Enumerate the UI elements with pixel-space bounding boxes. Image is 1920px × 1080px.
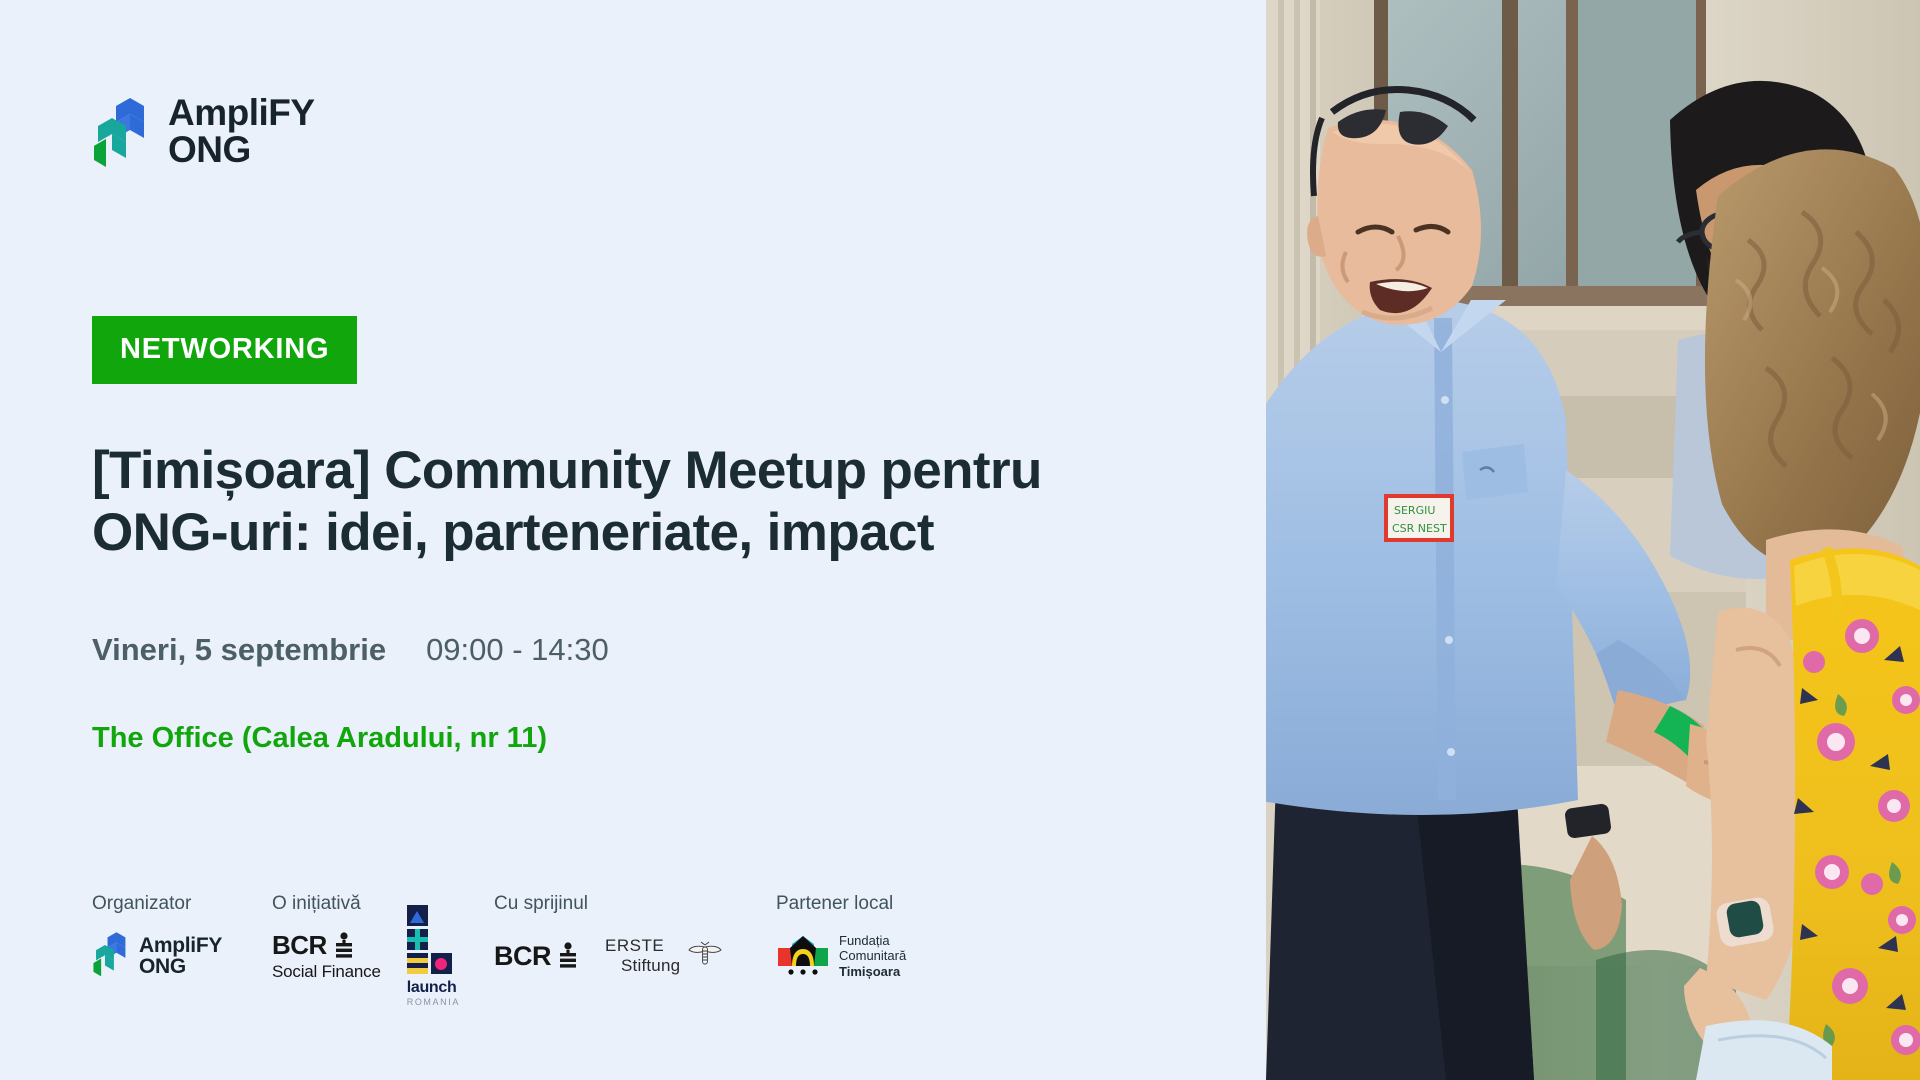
erste-line2: Stiftung <box>621 956 680 976</box>
brand-logo-line2: ONG <box>168 132 315 169</box>
event-title: [Timișoara] Community Meetup pentru ONG-… <box>92 440 1252 564</box>
event-time: 09:00 - 14:30 <box>426 632 609 668</box>
partner-group-organizator: Organizator <box>92 893 272 987</box>
category-badge: NETWORKING <box>92 316 357 384</box>
content-panel: AmpliFY ONG NETWORKING [Timișoara] Commu… <box>0 0 1266 1080</box>
launch-tiles-icon <box>407 905 452 974</box>
fundatia-comunitara-timisoara-logo: Fundația Comunitară Timișoara <box>776 933 906 979</box>
event-datetime: Vineri, 5 septembrie 09:00 - 14:30 <box>92 632 609 668</box>
svg-text:SERGIU: SERGIU <box>1394 504 1435 517</box>
erste-stiftung-logo: ERSTE Stiftung <box>605 936 722 976</box>
erste-stiftung-wordmark: ERSTE Stiftung <box>605 936 680 976</box>
launch-triangle-tile-icon <box>407 905 428 926</box>
partner-group-label: Organizator <box>92 893 272 915</box>
fundatia-arch-icon <box>776 934 830 978</box>
launch-stripes-tile-icon <box>407 953 428 974</box>
erste-line1: ERSTE <box>605 936 680 956</box>
bcr-social-finance-logo: BCR Social Finan <box>272 930 381 982</box>
amplify-ong-logo: AmpliFY ONG <box>92 931 222 982</box>
partner-group-sprijin: Cu sprijinul BCR <box>494 893 776 987</box>
fundatia-line1: Fundația <box>839 933 906 948</box>
event-location: The Office (Calea Aradului, nr 11) <box>92 722 547 755</box>
event-date: Vineri, 5 septembrie <box>92 632 386 668</box>
amplify-ong-line1: AmpliFY <box>139 935 222 956</box>
bcr-social-finance-subtitle: Social Finance <box>272 962 381 982</box>
bcr-piggy-icon <box>333 932 355 960</box>
partner-group-label: Partener local <box>776 893 1016 915</box>
launch-wordmark: launch <box>407 979 457 997</box>
partners-footer: Organizator <box>92 893 1016 987</box>
bee-icon <box>688 941 722 972</box>
partner-group-label: O inițiativă <box>272 893 494 915</box>
partner-group-partener-local: Partener local <box>776 893 1016 987</box>
launch-cross-tile-icon <box>407 929 428 950</box>
bcr-wordmark: BCR <box>272 930 327 961</box>
event-banner: AmpliFY ONG NETWORKING [Timișoara] Commu… <box>0 0 1920 1080</box>
event-photo: SERGIU CSR NEST <box>1266 0 1920 1080</box>
brand-logo-wordmark: AmpliFY ONG <box>168 95 315 168</box>
partner-group-initiativa: O inițiativă BCR <box>272 893 494 987</box>
partner-group-label: Cu sprijinul <box>494 893 776 915</box>
launch-dot-tile-icon <box>431 953 452 974</box>
event-title-line1: [Timișoara] Community Meetup pentru <box>92 440 1252 502</box>
bcr-wordmark: BCR <box>494 941 551 972</box>
launch-romania-logo: launch ROMANIA <box>407 905 460 1007</box>
fundatia-line2: Comunitară <box>839 948 906 963</box>
launch-country-label: ROMANIA <box>407 997 460 1007</box>
amplify-steps-icon <box>92 96 154 168</box>
amplify-steps-icon <box>92 931 132 982</box>
brand-logo: AmpliFY ONG <box>92 95 315 168</box>
event-title-line2: ONG-uri: idei, parteneriate, impact <box>92 502 1252 564</box>
fundatia-line3: Timișoara <box>839 964 906 979</box>
bcr-logo: BCR <box>494 941 579 972</box>
bcr-piggy-icon <box>557 942 579 970</box>
svg-text:CSR NEST: CSR NEST <box>1392 522 1447 535</box>
brand-logo-line1: AmpliFY <box>168 95 315 132</box>
amplify-ong-wordmark: AmpliFY ONG <box>139 935 222 977</box>
amplify-ong-line2: ONG <box>139 956 222 977</box>
fundatia-wordmark: Fundația Comunitară Timișoara <box>839 933 906 979</box>
